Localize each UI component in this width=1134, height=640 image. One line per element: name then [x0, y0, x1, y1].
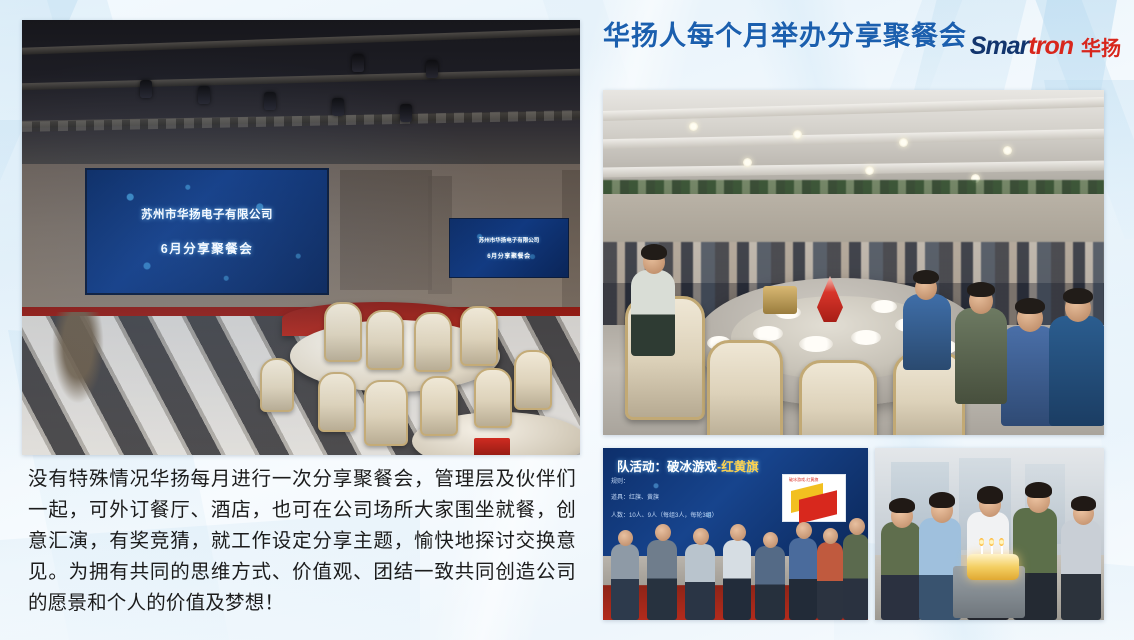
- icebreak-banner-sub-1: 规则：: [611, 476, 629, 485]
- icebreak-banner-sub-3: 人数：10人、9人（每组3人，每轮3组）: [611, 510, 718, 519]
- logo-text-smar: Smar: [970, 32, 1029, 61]
- banner-title-prefix: 队活动：: [617, 460, 667, 474]
- logo-text-tron: tron: [1028, 32, 1073, 61]
- icebreak-flag-graphic: 破冰游戏-红黄旗: [782, 474, 846, 522]
- brand-logo: Smar tron 华扬: [970, 32, 1121, 61]
- banner-title-main: 破冰游戏: [667, 460, 717, 474]
- flag-graphic-caption: 破冰游戏-红黄旗: [789, 477, 818, 483]
- icebreak-banner-sub-2: 道具：红旗、黄旗: [611, 492, 659, 501]
- slide-root: 华扬人每个月举办分享聚餐会 Smar tron 华扬 苏州市华扬电子有限公司 6…: [0, 0, 1134, 640]
- photo-birthday-cake: [875, 448, 1104, 620]
- photo-icebreaking-game: 队活动：破冰游戏-红黄旗 规则： 道具：红旗、黄旗 人数：10人、9人（每组3人…: [603, 448, 868, 620]
- banquet-gold-box: [763, 286, 797, 314]
- icebreak-banner-title: 队活动：破冰游戏-红黄旗: [617, 456, 759, 475]
- caption-text: 没有特殊情况华扬每月进行一次分享聚餐会，管理层及伙伴们一起，可外订餐厅、酒店，也…: [28, 464, 576, 619]
- birthday-cake: [967, 554, 1019, 580]
- logo-text-chinese: 华扬: [1081, 32, 1121, 61]
- photo-banquet-room: [603, 90, 1104, 435]
- banner-title-highlight: -红黄旗: [717, 460, 759, 474]
- photo-banquet-hall: 苏州市华扬电子有限公司 6月分享聚餐会 苏州市华扬电子有限公司 6月分享聚餐会: [22, 20, 580, 455]
